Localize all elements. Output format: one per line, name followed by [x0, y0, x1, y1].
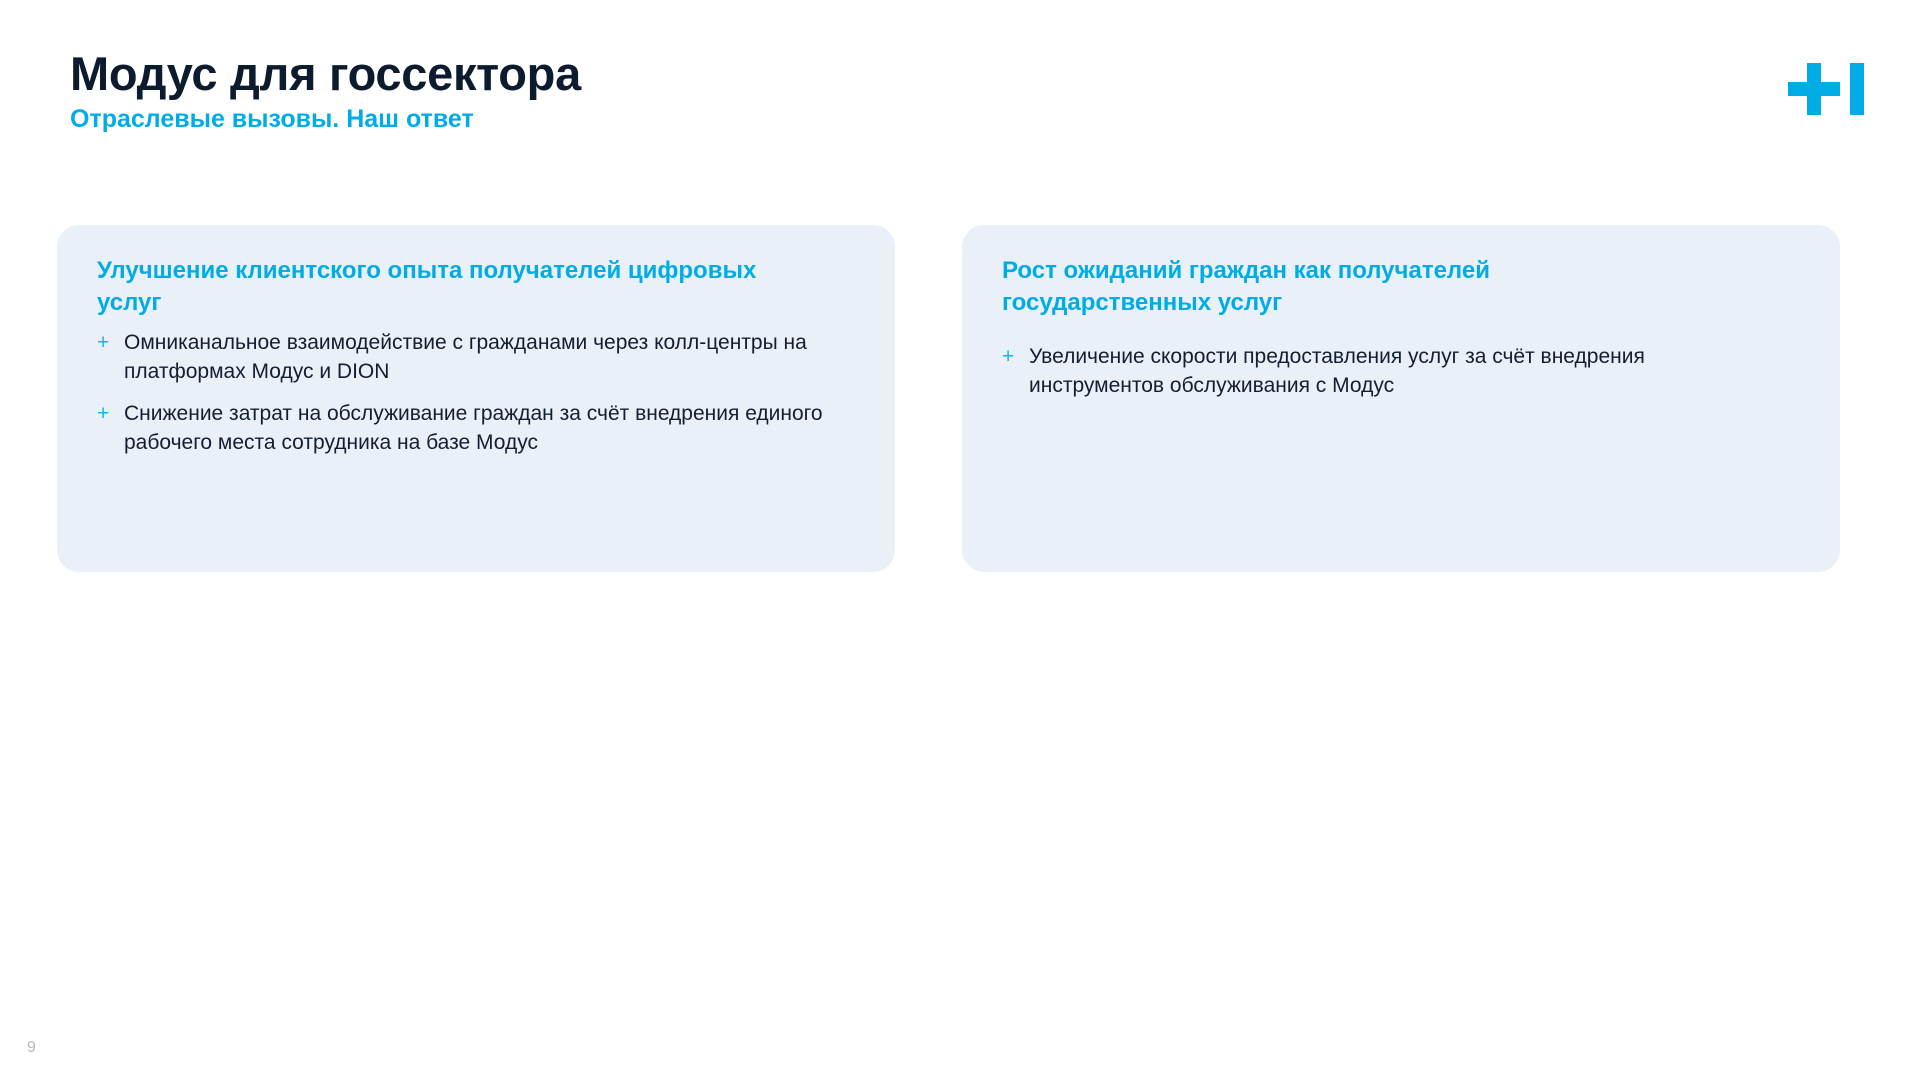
list-item-text: Увеличение скорости предоставления услуг… — [1029, 345, 1645, 397]
cards-row: Улучшение клиентского опыта получателей … — [57, 225, 1840, 572]
plus-icon — [1788, 63, 1840, 115]
card-heading: Улучшение клиентского опыта получателей … — [97, 255, 827, 319]
plus-bullet-icon: + — [97, 329, 109, 358]
card-heading: Рост ожиданий граждан как получателей го… — [1002, 255, 1702, 319]
card-bullet-list: + Омниканальное взаимодействие с граждан… — [97, 329, 855, 457]
slide-header: Модус для госсектора Отраслевые вызовы. … — [70, 48, 1370, 135]
plus-bullet-icon: + — [97, 400, 109, 429]
challenge-card-left: Улучшение клиентского опыта получателей … — [57, 225, 895, 572]
list-item-text: Снижение затрат на обслуживание граждан … — [124, 402, 823, 454]
challenge-card-right: Рост ожиданий граждан как получателей го… — [962, 225, 1840, 572]
vertical-bar-icon — [1850, 63, 1864, 115]
list-item: + Увеличение скорости предоставления усл… — [1002, 343, 1749, 401]
page-title: Модус для госсектора — [70, 48, 1370, 101]
card-bullet-list: + Увеличение скорости предоставления усл… — [1002, 329, 1800, 401]
page-subtitle: Отраслевые вызовы. Наш ответ — [70, 104, 1370, 135]
list-item: + Омниканальное взаимодействие с граждан… — [97, 329, 844, 387]
page-number: 9 — [27, 1040, 36, 1056]
brand-logo — [1788, 55, 1880, 121]
plus-bullet-icon: + — [1002, 343, 1014, 372]
list-item-text: Омниканальное взаимодействие с гражданам… — [124, 331, 807, 383]
list-item: + Снижение затрат на обслуживание гражда… — [97, 400, 844, 458]
